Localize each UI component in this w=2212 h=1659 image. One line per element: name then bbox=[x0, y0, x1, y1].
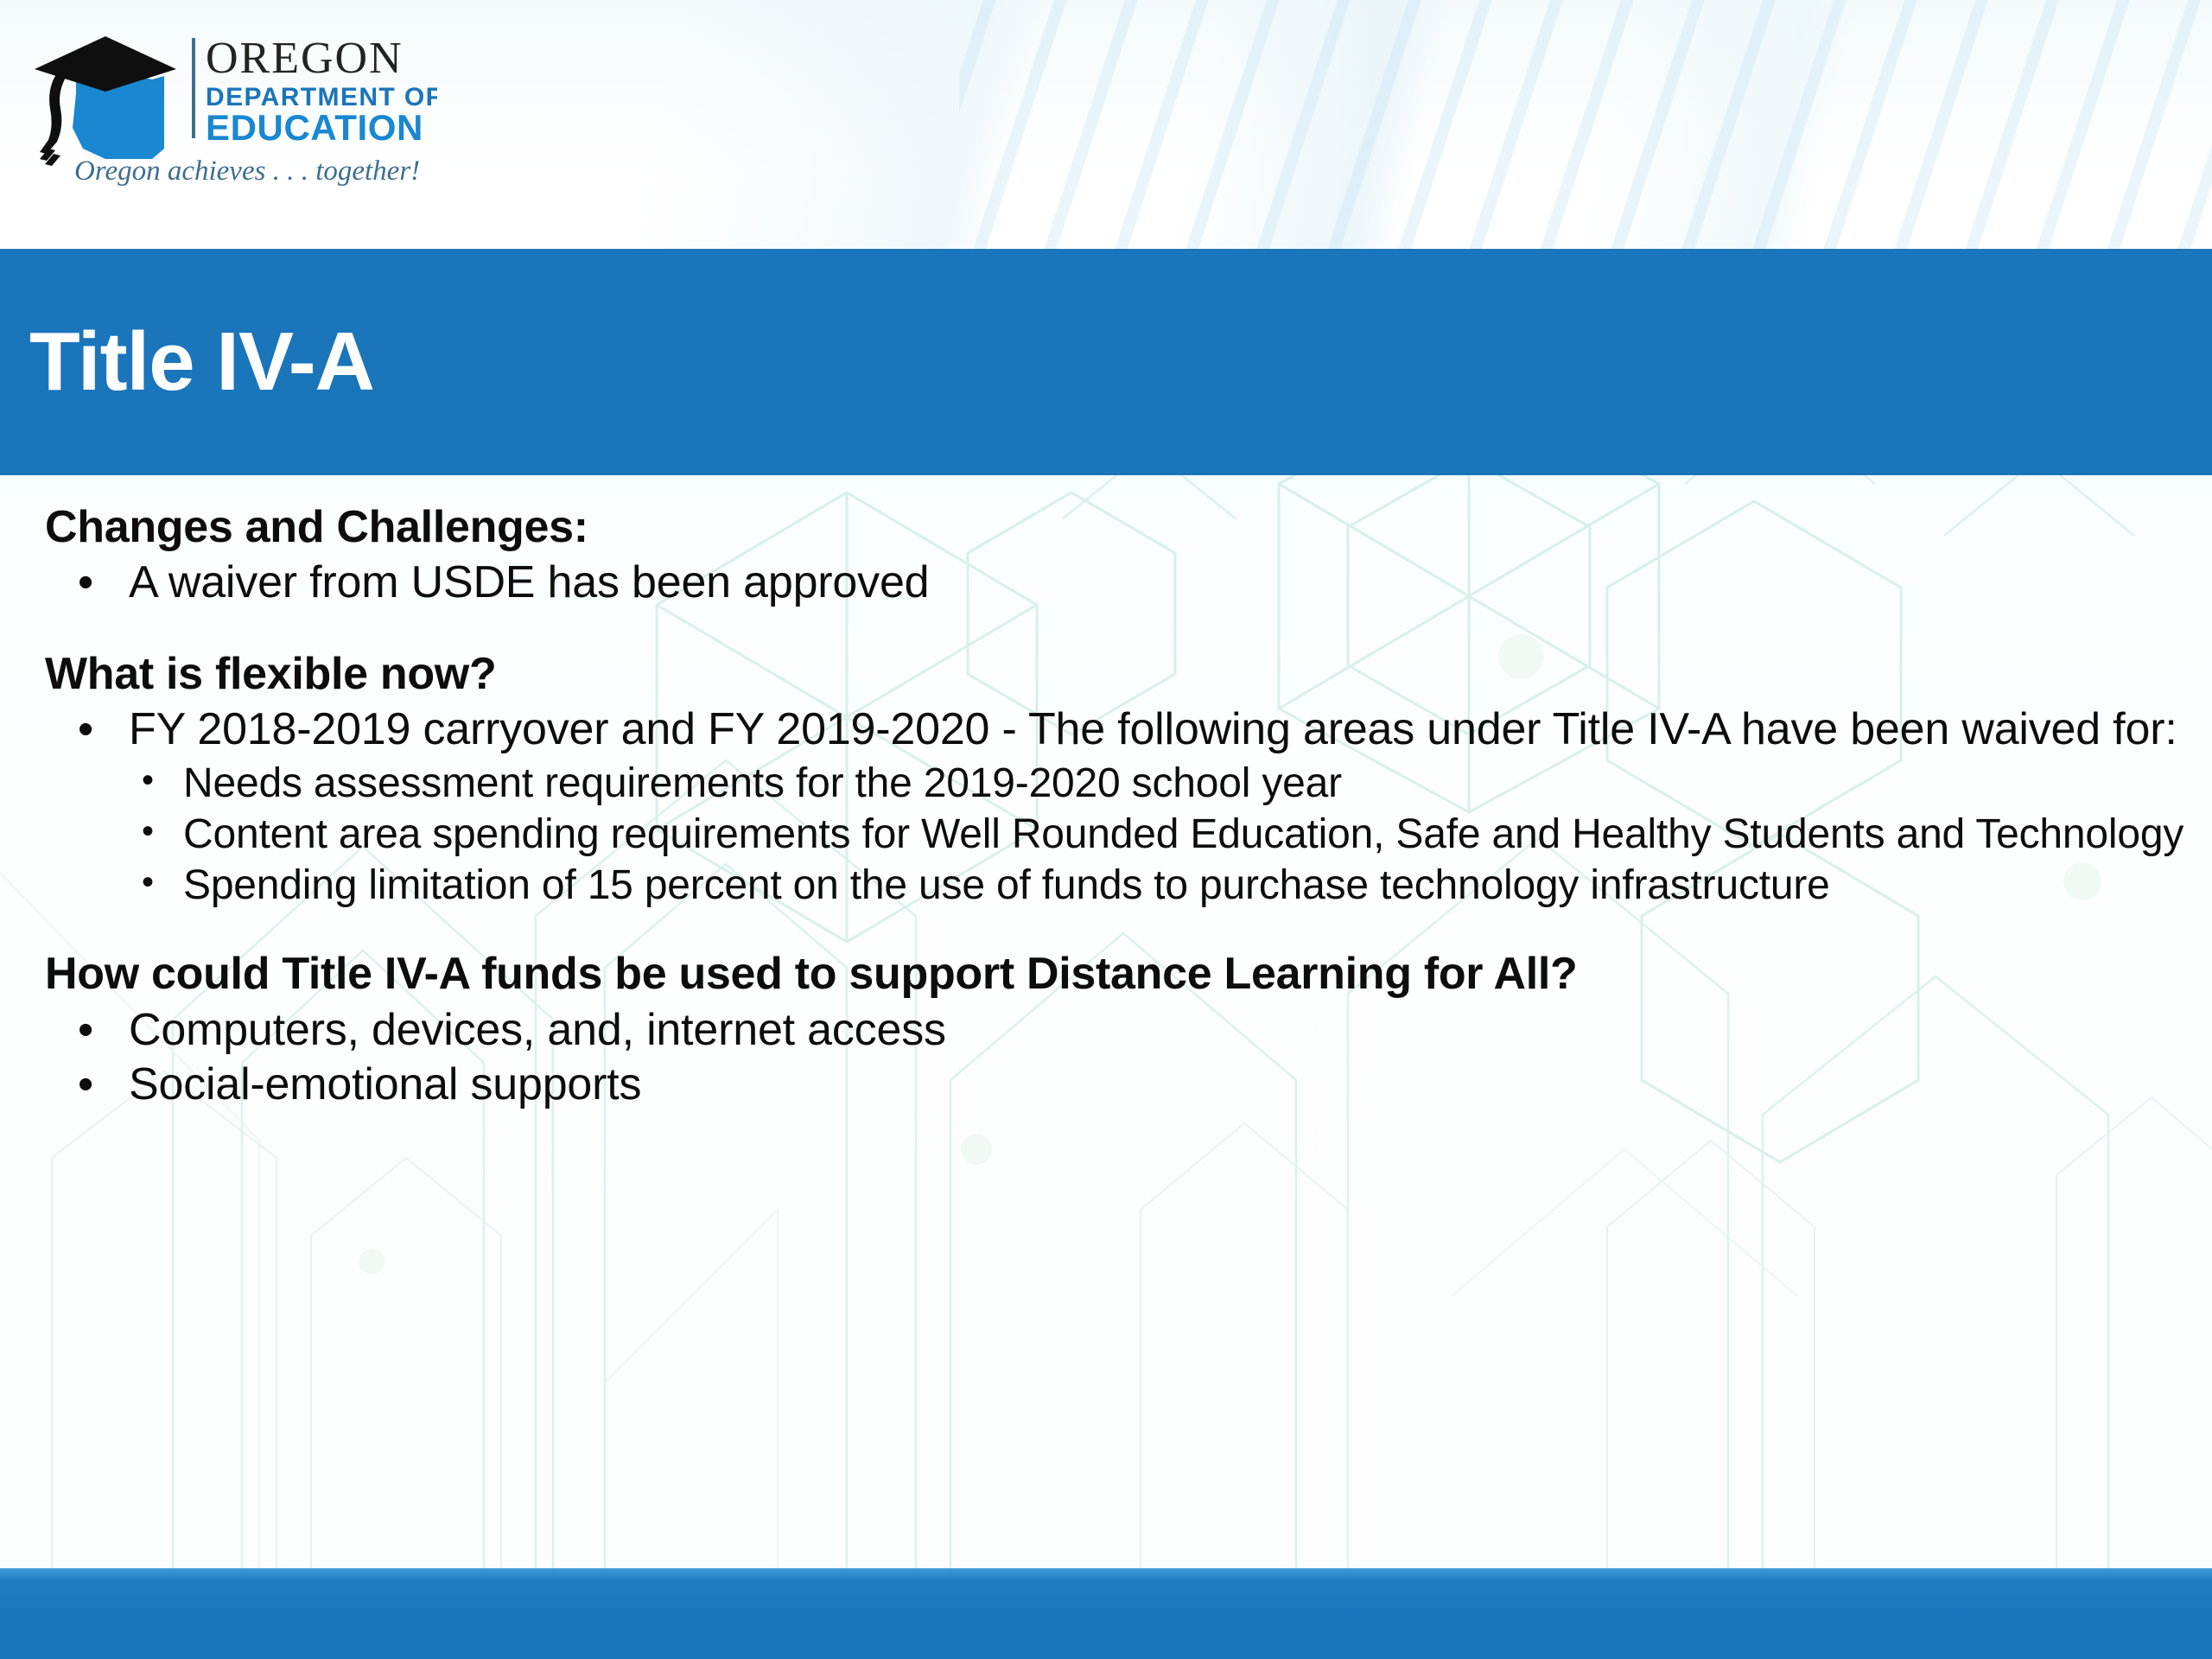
list-item-text: Content area spending requirements for W… bbox=[183, 811, 2183, 857]
bullet-list-fund-uses: • Computers, devices, and, internet acce… bbox=[45, 1004, 2186, 1112]
list-item-text: Computers, devices, and, internet access bbox=[129, 1005, 946, 1055]
bullet-glyph-icon: • bbox=[78, 556, 93, 609]
bullet-glyph-icon: • bbox=[142, 758, 154, 803]
bullet-list-what-is-flexible-now: • FY 2018-2019 carryover and FY 2019-202… bbox=[45, 703, 2186, 756]
list-item-text: Spending limitation of 15 percent on the… bbox=[183, 862, 1830, 908]
slide: OREGON DEPARTMENT OF EDUCATION Oregon ac… bbox=[0, 0, 2212, 1659]
bullet-glyph-icon: • bbox=[78, 1004, 93, 1057]
logo-divider bbox=[192, 38, 195, 138]
section-heading-how-could-funds-be-used: How could Title IV-A funds be used to su… bbox=[45, 948, 2186, 1000]
list-item: • Computers, devices, and, internet acce… bbox=[45, 1004, 2186, 1057]
bullet-glyph-icon: • bbox=[78, 703, 93, 756]
bullet-glyph-icon: • bbox=[142, 809, 154, 854]
bullet-glyph-icon: • bbox=[78, 1058, 93, 1111]
list-item: • Spending limitation of 15 percent on t… bbox=[123, 861, 2186, 911]
section-heading-changes-and-challenges: Changes and Challenges: bbox=[45, 501, 2186, 553]
list-item-text: Needs assessment requirements for the 20… bbox=[183, 760, 1342, 806]
slide-title-bar: Title IV-A bbox=[0, 249, 2212, 475]
section-heading-what-is-flexible-now: What is flexible now? bbox=[45, 648, 2186, 700]
list-item: • Content area spending requirements for… bbox=[123, 810, 2186, 860]
oregon-department-of-education-logo: OREGON DEPARTMENT OF EDUCATION Oregon ac… bbox=[22, 19, 437, 226]
list-item: • A waiver from USDE has been approved bbox=[45, 556, 2186, 609]
list-item-text: FY 2018-2019 carryover and FY 2019-2020 … bbox=[129, 704, 2177, 754]
list-item: • Needs assessment requirements for the … bbox=[123, 760, 2186, 809]
bullet-list-changes-and-challenges: • A waiver from USDE has been approved bbox=[45, 556, 2186, 609]
graduation-cap-over-oregon-state-icon bbox=[35, 36, 176, 166]
list-item-text: Social-emotional supports bbox=[129, 1059, 641, 1109]
page-title: Title IV-A bbox=[29, 321, 374, 404]
footer-accent-bar bbox=[0, 1568, 2212, 1659]
header-diagonal-stripes bbox=[959, 0, 2212, 249]
slide-body: Changes and Challenges: • A waiver from … bbox=[0, 475, 2212, 1568]
list-item-text: A waiver from USDE has been approved bbox=[129, 557, 929, 607]
list-item: • Social-emotional supports bbox=[45, 1058, 2186, 1111]
logo-oregon-text: OREGON bbox=[206, 34, 404, 83]
logo-education-text: EDUCATION bbox=[206, 107, 423, 148]
list-item: • FY 2018-2019 carryover and FY 2019-202… bbox=[45, 703, 2186, 756]
bullet-glyph-icon: • bbox=[142, 860, 154, 905]
logo-tagline-text: Oregon achieves . . . together! bbox=[74, 156, 420, 187]
sub-bullet-group: • Needs assessment requirements for the … bbox=[45, 760, 2186, 910]
sub-bullet-list-waived-areas: • Needs assessment requirements for the … bbox=[123, 760, 2186, 910]
